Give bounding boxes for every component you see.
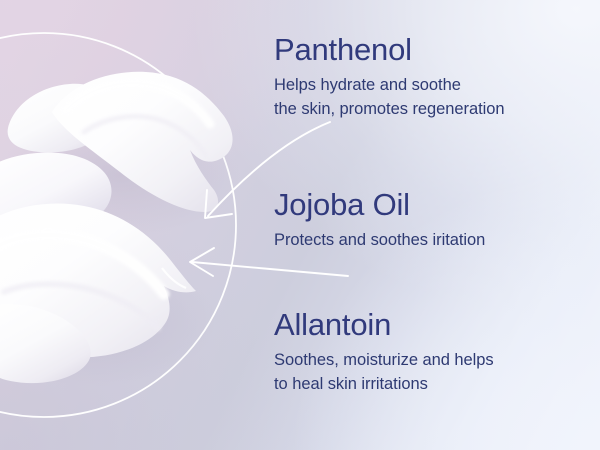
- ingredient-description: Helps hydrate and soothe the skin, promo…: [274, 74, 505, 121]
- ingredient-name: Allantoin: [274, 308, 494, 341]
- ingredient-name: Jojoba Oil: [274, 188, 485, 221]
- ingredient-name: Panthenol: [274, 33, 505, 66]
- ingredient-item-jojoba-oil: Jojoba Oil Protects and soothes iritatio…: [274, 188, 485, 253]
- ingredient-item-allantoin: Allantoin Soothes, moisturize and helps …: [274, 308, 494, 396]
- ingredient-description: Protects and soothes iritation: [274, 229, 485, 252]
- ingredient-list: Panthenol Helps hydrate and soothe the s…: [274, 0, 590, 450]
- ingredient-description: Soothes, moisturize and helps to heal sk…: [274, 349, 494, 396]
- ingredient-infographic-banner: Panthenol Helps hydrate and soothe the s…: [0, 0, 600, 450]
- ingredient-item-panthenol: Panthenol Helps hydrate and soothe the s…: [274, 33, 505, 121]
